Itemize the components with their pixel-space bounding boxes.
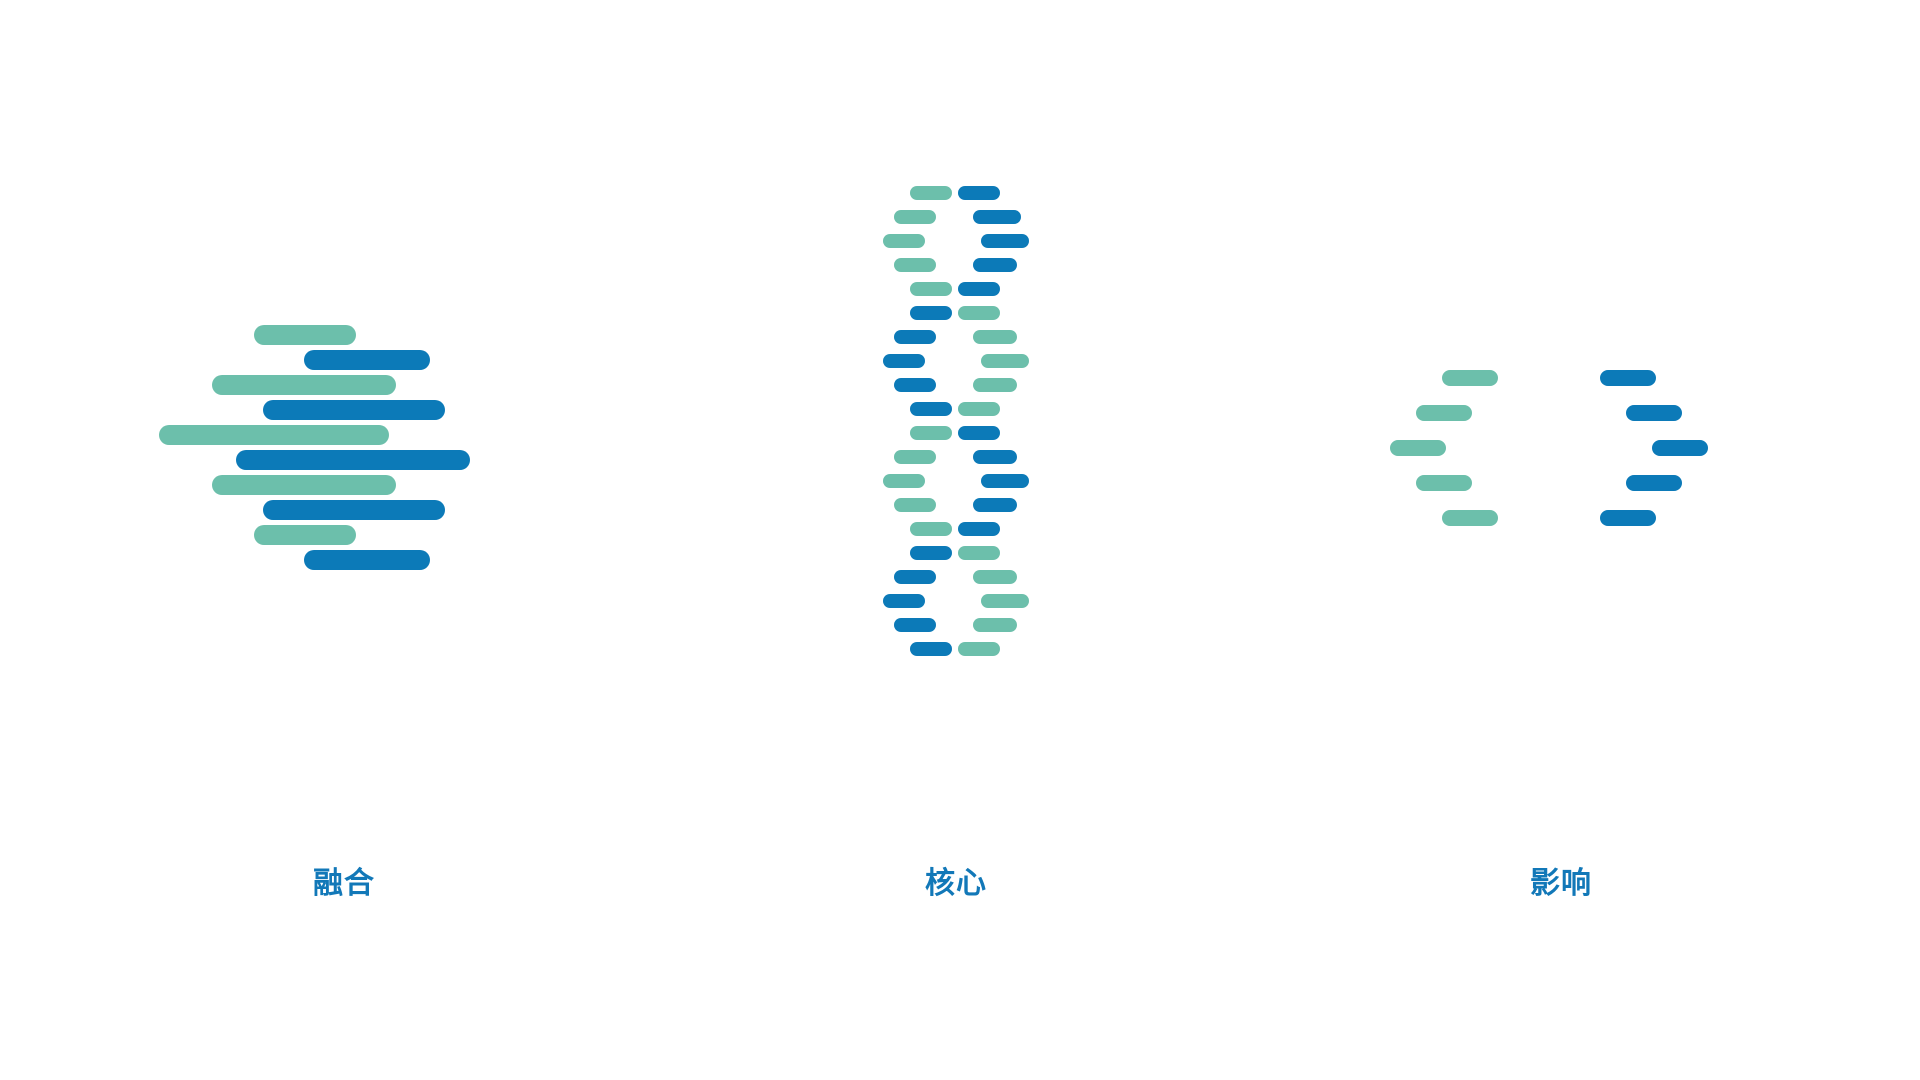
core-bar-left xyxy=(894,258,936,272)
core-bar-right xyxy=(981,594,1029,608)
core-bar-right xyxy=(973,378,1017,392)
impact-bracket-glyph xyxy=(1220,0,1920,700)
impact-bar-left-bracket xyxy=(1390,440,1446,456)
fusion-bar xyxy=(212,375,396,395)
fusion-bar xyxy=(236,450,470,470)
cluster-label-core: 核心 xyxy=(700,869,1220,899)
core-bar-right xyxy=(981,234,1029,248)
core-bar-left xyxy=(894,570,936,584)
core-bar-right xyxy=(973,210,1021,224)
cluster-core: 核心 xyxy=(700,0,1220,1080)
core-bar-right xyxy=(973,330,1017,344)
core-bar-right xyxy=(958,426,1000,440)
core-bar-right xyxy=(958,522,1000,536)
core-bar-left xyxy=(910,306,952,320)
core-bar-left xyxy=(910,282,952,296)
fusion-bar xyxy=(263,400,445,420)
core-bar-right xyxy=(958,546,1000,560)
fusion-bar-glyph xyxy=(0,0,700,700)
fusion-bar xyxy=(263,500,445,520)
core-bar-right xyxy=(973,258,1017,272)
impact-bar-left-bracket xyxy=(1416,405,1472,421)
impact-bar-right-bracket xyxy=(1652,440,1708,456)
impact-bar-right-bracket xyxy=(1626,405,1682,421)
core-bar-left xyxy=(910,186,952,200)
fusion-bar xyxy=(304,350,430,370)
core-bar-left xyxy=(894,378,936,392)
core-bar-left xyxy=(910,522,952,536)
fusion-bar xyxy=(254,325,356,345)
core-bar-left xyxy=(894,210,936,224)
core-helix-glyph xyxy=(700,0,1220,760)
core-bar-left xyxy=(883,234,925,248)
impact-bar-right-bracket xyxy=(1600,510,1656,526)
core-bar-right xyxy=(981,354,1029,368)
core-bar-right xyxy=(973,570,1017,584)
core-bar-left xyxy=(894,330,936,344)
impact-bar-left-bracket xyxy=(1416,475,1472,491)
impact-bar-right-bracket xyxy=(1626,475,1682,491)
cluster-label-impact: 影响 xyxy=(1220,869,1920,899)
core-bar-right xyxy=(958,306,1000,320)
core-bar-left xyxy=(894,450,936,464)
core-bar-left xyxy=(910,546,952,560)
core-bar-right xyxy=(973,498,1017,512)
core-bar-right xyxy=(973,450,1017,464)
core-bar-left xyxy=(894,498,936,512)
fusion-bar xyxy=(159,425,389,445)
impact-bar-right-bracket xyxy=(1600,370,1656,386)
core-bar-left xyxy=(883,474,925,488)
cluster-impact: 影响 xyxy=(1220,0,1920,1080)
core-bar-right xyxy=(958,186,1000,200)
core-bar-left xyxy=(910,402,952,416)
cluster-label-fusion: 融合 xyxy=(0,869,700,899)
infographic-canvas: 融合 核心 影响 xyxy=(0,0,1920,1080)
impact-bar-left-bracket xyxy=(1442,370,1498,386)
core-bar-left xyxy=(894,618,936,632)
fusion-bar xyxy=(212,475,396,495)
fusion-bar xyxy=(304,550,430,570)
core-bar-left xyxy=(883,594,925,608)
core-bar-left xyxy=(883,354,925,368)
core-bar-left xyxy=(910,642,952,656)
cluster-fusion: 融合 xyxy=(0,0,700,1080)
fusion-bar xyxy=(254,525,356,545)
core-bar-left xyxy=(910,426,952,440)
core-bar-right xyxy=(958,402,1000,416)
impact-bar-left-bracket xyxy=(1442,510,1498,526)
core-bar-right xyxy=(958,642,1000,656)
core-bar-right xyxy=(973,618,1017,632)
core-bar-right xyxy=(958,282,1000,296)
core-bar-right xyxy=(981,474,1029,488)
